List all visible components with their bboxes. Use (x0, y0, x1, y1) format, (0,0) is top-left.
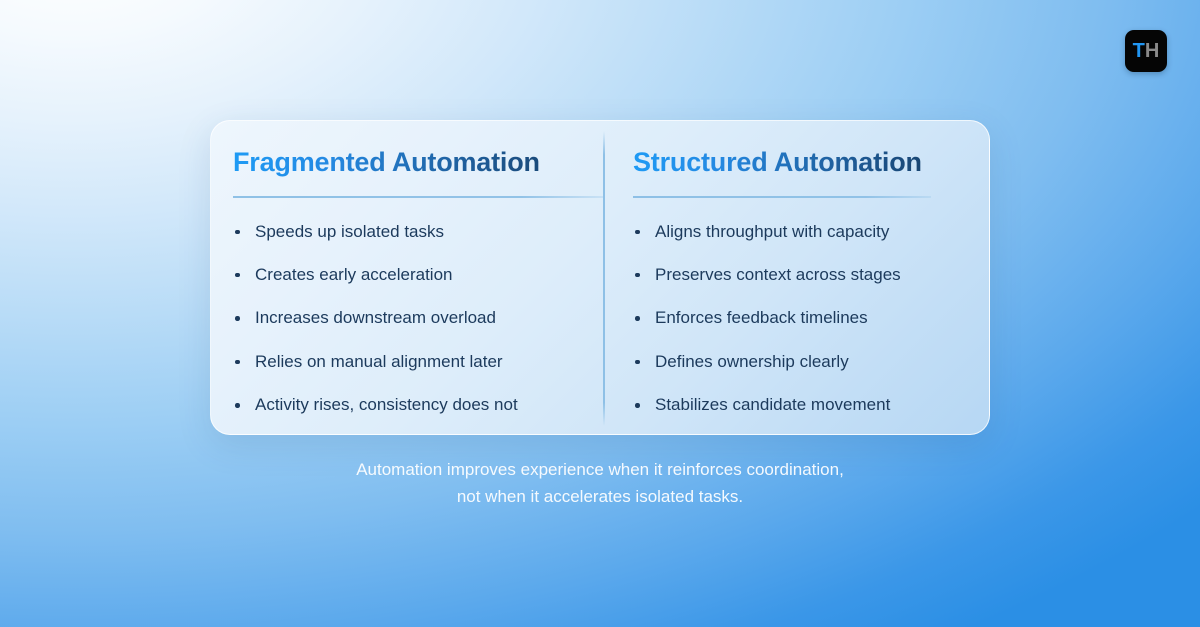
list-item: Activity rises, consistency does not (233, 395, 603, 415)
list-item: Preserves context across stages (633, 265, 963, 285)
list-item-label: Stabilizes candidate movement (655, 395, 890, 414)
point-list-fragmented: Speeds up isolated tasks Creates early a… (233, 222, 603, 416)
list-item-label: Relies on manual alignment later (255, 352, 503, 371)
list-item: Enforces feedback timelines (633, 308, 963, 328)
list-item: Creates early acceleration (233, 265, 603, 285)
point-list-structured: Aligns throughput with capacity Preserve… (633, 222, 963, 416)
bullet-icon (635, 360, 640, 365)
column-heading-fragmented: Fragmented Automation (233, 147, 603, 180)
bullet-icon (235, 316, 240, 321)
list-item: Relies on manual alignment later (233, 352, 603, 372)
column-heading-structured: Structured Automation (633, 147, 963, 180)
bullet-icon (635, 316, 640, 321)
caption-line-1: Automation improves experience when it r… (0, 456, 1200, 483)
list-item-label: Increases downstream overload (255, 308, 496, 327)
bullet-icon (235, 273, 240, 278)
bullet-icon (235, 360, 240, 365)
list-item: Defines ownership clearly (633, 352, 963, 372)
caption-line-2: not when it accelerates isolated tasks. (0, 483, 1200, 510)
logo-letter-h: H (1145, 40, 1159, 62)
comparison-card: Fragmented Automation Speeds up isolated… (210, 120, 990, 435)
comparison-column-fragmented: Fragmented Automation Speeds up isolated… (211, 121, 603, 434)
bullet-icon (235, 403, 240, 408)
list-item-label: Enforces feedback timelines (655, 308, 868, 327)
column-heading-underline-left (233, 196, 603, 198)
bullet-icon (235, 230, 240, 235)
list-item-label: Defines ownership clearly (655, 352, 849, 371)
bullet-icon (635, 273, 640, 278)
list-item-label: Creates early acceleration (255, 265, 452, 284)
list-item-label: Activity rises, consistency does not (255, 395, 518, 414)
list-item-label: Aligns throughput with capacity (655, 222, 889, 241)
bullet-icon (635, 403, 640, 408)
bullet-icon (635, 230, 640, 235)
list-item: Speeds up isolated tasks (233, 222, 603, 242)
logo-letter-t: T (1133, 40, 1145, 62)
list-item-label: Speeds up isolated tasks (255, 222, 444, 241)
brand-logo-text: TH (1133, 41, 1160, 61)
list-item: Aligns throughput with capacity (633, 222, 963, 242)
list-item-label: Preserves context across stages (655, 265, 901, 284)
brand-logo-badge: TH (1125, 30, 1167, 72)
caption: Automation improves experience when it r… (0, 456, 1200, 510)
list-item: Increases downstream overload (233, 308, 603, 328)
comparison-column-structured: Structured Automation Aligns throughput … (603, 121, 989, 434)
list-item: Stabilizes candidate movement (633, 395, 963, 415)
column-heading-underline-right (633, 196, 931, 198)
